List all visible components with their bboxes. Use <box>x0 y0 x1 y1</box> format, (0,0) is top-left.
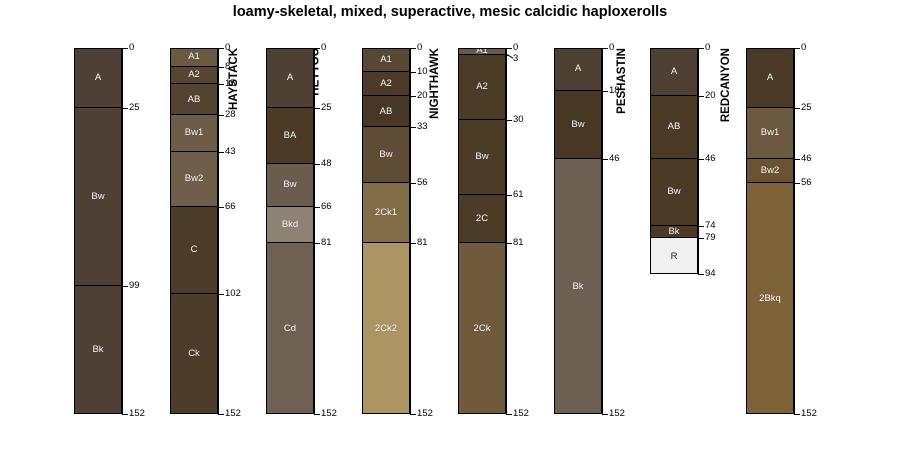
depth-tick-label: 56 <box>801 178 812 188</box>
depth-axis <box>218 48 219 414</box>
soil-horizon: 2Ck2 <box>363 243 409 414</box>
depth-tick <box>506 120 512 121</box>
depth-tick-label: 10 <box>417 67 428 77</box>
depth-tick <box>314 414 320 415</box>
depth-tick-label: 61 <box>513 190 524 200</box>
depth-tick-label: 152 <box>225 409 241 419</box>
depth-axis <box>794 48 795 414</box>
horizon-label: A <box>575 64 581 74</box>
depth-tick <box>410 96 416 97</box>
depth-axis <box>410 48 411 414</box>
depth-tick-label: 18 <box>609 86 620 96</box>
depth-tick <box>410 72 416 73</box>
depth-tick <box>314 108 320 109</box>
depth-tick <box>218 207 224 208</box>
depth-tick-label: 15 <box>225 79 236 89</box>
profile-bar: ABwBk <box>554 48 602 414</box>
soil-horizon: Bw <box>267 164 313 207</box>
horizon-label: A <box>287 73 293 83</box>
soil-horizon: 2Ck <box>459 243 505 414</box>
horizon-label: AB <box>188 95 201 105</box>
depth-tick <box>122 286 128 287</box>
depth-tick-label: 0 <box>513 43 518 53</box>
depth-tick <box>218 115 224 116</box>
horizon-label: 2Ck <box>474 324 491 334</box>
horizon-label: Ck <box>188 349 200 359</box>
depth-tick <box>698 226 704 227</box>
horizon-label: Bk <box>92 345 103 355</box>
depth-tick-label: 25 <box>801 103 812 113</box>
depth-tick <box>314 207 320 208</box>
soil-horizon: A <box>75 48 121 108</box>
depth-tick-label: 81 <box>321 238 332 248</box>
depth-tick <box>410 48 416 49</box>
horizon-label: A <box>767 73 773 83</box>
horizon-label: R <box>671 252 678 262</box>
soil-horizon: Bw2 <box>171 152 217 207</box>
depth-tick <box>698 274 704 275</box>
soil-horizon: A <box>555 48 601 91</box>
soil-horizon: AB <box>171 84 217 115</box>
profile-bar: A1A2ABBw2Ck12Ck2 <box>362 48 410 414</box>
horizon-label: Bw2 <box>761 166 779 176</box>
depth-tick-label: 0 <box>321 43 326 53</box>
soil-profile-plot: loamy-skeletal, mixed, superactive, mesi… <box>0 0 900 450</box>
depth-tick-label: 152 <box>513 409 529 419</box>
soil-horizon: Cd <box>267 243 313 414</box>
horizon-label: Bk <box>668 227 679 237</box>
depth-tick <box>218 84 224 85</box>
profile-bar: ABABwBkdCd <box>266 48 314 414</box>
horizon-label: Bw <box>379 150 392 160</box>
soil-horizon: C <box>171 207 217 294</box>
depth-tick <box>218 152 224 153</box>
horizon-label: A2 <box>380 79 392 89</box>
soil-horizon: Bk <box>555 159 601 414</box>
soil-horizon: R <box>651 238 697 274</box>
depth-tick-label: 46 <box>609 154 620 164</box>
depth-tick <box>314 48 320 49</box>
depth-tick <box>122 108 128 109</box>
depth-tick-label: 81 <box>513 238 524 248</box>
depth-tick <box>794 48 800 49</box>
depth-tick <box>602 48 608 49</box>
depth-tick-label: 0 <box>129 43 134 53</box>
depth-tick <box>410 127 416 128</box>
soil-horizon: Bk <box>651 226 697 238</box>
horizon-label: A1 <box>188 52 200 62</box>
depth-tick-label: 0 <box>801 43 806 53</box>
depth-tick <box>122 48 128 49</box>
horizon-label: BA <box>284 131 297 141</box>
soil-horizon: 2Ck1 <box>363 183 409 243</box>
horizon-label: Bw1 <box>761 128 779 138</box>
depth-tick <box>794 183 800 184</box>
profile-bar: A1A2ABBw1Bw2CCk <box>170 48 218 414</box>
depth-tick <box>794 108 800 109</box>
horizon-label: Bk <box>572 282 583 292</box>
depth-tick-label: 0 <box>225 43 230 53</box>
profile-name-label: PESHASTIN <box>616 48 628 114</box>
soil-horizon: AB <box>363 96 409 127</box>
horizon-label: Bw1 <box>185 128 203 138</box>
horizon-label: 2Ck1 <box>375 208 397 218</box>
soil-horizon: AB <box>651 96 697 159</box>
soil-horizon: Bw <box>651 159 697 226</box>
depth-axis <box>698 48 699 274</box>
horizon-label: Bw <box>571 120 584 130</box>
depth-tick-label: 66 <box>321 202 332 212</box>
depth-tick <box>698 159 704 160</box>
depth-tick-label: 20 <box>705 91 716 101</box>
depth-tick <box>602 414 608 415</box>
soil-horizon: A <box>267 48 313 108</box>
profile-name-label: NIGHTHAWK <box>429 48 441 119</box>
depth-tick-label: 152 <box>417 409 433 419</box>
depth-tick-label: 66 <box>225 202 236 212</box>
depth-tick <box>506 243 512 244</box>
depth-tick <box>698 48 704 49</box>
horizon-label: Bw <box>475 152 488 162</box>
depth-tick <box>410 243 416 244</box>
horizon-label: A <box>95 73 101 83</box>
horizon-label: Bw2 <box>185 174 203 184</box>
depth-tick-label: 33 <box>417 122 428 132</box>
depth-tick <box>602 159 608 160</box>
horizon-label: AB <box>668 122 681 132</box>
horizon-label: 2Bkq <box>759 294 781 304</box>
depth-tick <box>218 414 224 415</box>
soil-horizon: 2Bkq <box>747 183 793 414</box>
profile-name-label: REDCANYON <box>720 48 732 122</box>
soil-horizon: Bk <box>75 286 121 414</box>
soil-horizon: Bw1 <box>171 115 217 151</box>
depth-tick <box>794 159 800 160</box>
depth-tick-label: 152 <box>129 409 145 419</box>
depth-tick-label: 43 <box>225 147 236 157</box>
soil-horizon: Bw <box>459 120 505 195</box>
depth-tick-label: 25 <box>129 103 140 113</box>
depth-tick <box>314 243 320 244</box>
depth-tick <box>602 91 608 92</box>
depth-tick-label: 81 <box>417 238 428 248</box>
soil-horizon: A2 <box>171 67 217 84</box>
depth-tick <box>218 48 224 49</box>
horizon-label: A2 <box>476 82 488 92</box>
depth-tick <box>314 164 320 165</box>
soil-horizon: A1 <box>171 48 217 67</box>
depth-tick-label: 25 <box>321 103 332 113</box>
depth-tick-label: 56 <box>417 178 428 188</box>
depth-tick-label: 152 <box>609 409 625 419</box>
soil-horizon: BA <box>267 108 313 163</box>
horizon-label: A <box>671 67 677 77</box>
depth-axis <box>122 48 123 414</box>
horizon-label: A2 <box>188 70 200 80</box>
profile-bar: ABwBk <box>74 48 122 414</box>
depth-axis <box>314 48 315 414</box>
soil-horizon: A2 <box>459 55 505 120</box>
depth-tick <box>410 183 416 184</box>
depth-tick-label: 152 <box>321 409 337 419</box>
depth-axis <box>602 48 603 414</box>
depth-tick-label: 152 <box>801 409 817 419</box>
depth-tick-label: 74 <box>705 221 716 231</box>
depth-tick <box>698 96 704 97</box>
depth-tick <box>698 238 704 239</box>
profile-bar: AABBwBkR <box>650 48 698 274</box>
depth-tick <box>122 414 128 415</box>
depth-tick-label: 28 <box>225 110 236 120</box>
depth-tick <box>506 414 512 415</box>
soil-horizon: A1 <box>459 48 505 55</box>
depth-tick <box>410 414 416 415</box>
depth-tick-label: 0 <box>705 43 710 53</box>
depth-tick-label: 79 <box>705 233 716 243</box>
depth-tick <box>218 67 224 68</box>
soil-horizon: 2C <box>459 195 505 243</box>
depth-tick-label: 102 <box>225 289 241 299</box>
depth-tick <box>794 414 800 415</box>
depth-tick <box>218 294 224 295</box>
horizon-label: Bw <box>667 187 680 197</box>
soil-horizon: A1 <box>363 48 409 72</box>
depth-axis <box>506 48 507 414</box>
horizon-label: Cd <box>284 324 296 334</box>
soil-horizon: A2 <box>363 72 409 96</box>
depth-tick-label: 3 <box>513 54 518 64</box>
soil-horizon: Bw1 <box>747 108 793 159</box>
profile-bar: A1A2Bw2C2Ck <box>458 48 506 414</box>
depth-tick-label: 0 <box>417 43 422 53</box>
depth-tick-label: 94 <box>705 269 716 279</box>
depth-tick-label: 48 <box>321 159 332 169</box>
horizon-label: 2C <box>476 214 488 224</box>
soil-horizon: A <box>747 48 793 108</box>
page-title: loamy-skeletal, mixed, superactive, mesi… <box>0 4 900 20</box>
soil-horizon: Bkd <box>267 207 313 243</box>
soil-horizon: A <box>651 48 697 96</box>
depth-tick <box>506 48 512 49</box>
soil-horizon: Bw <box>75 108 121 286</box>
soil-horizon: Bw2 <box>747 159 793 183</box>
depth-tick <box>506 195 512 196</box>
soil-horizon: Bw <box>555 91 601 158</box>
depth-tick-label: 8 <box>225 62 230 72</box>
depth-tick-label: 30 <box>513 115 524 125</box>
soil-horizon: Ck <box>171 294 217 414</box>
horizon-label: Bkd <box>282 220 298 230</box>
horizon-label: 2Ck2 <box>375 324 397 334</box>
horizon-label: A1 <box>380 55 392 65</box>
horizon-label: AB <box>380 107 393 117</box>
horizon-label: Bw <box>283 180 296 190</box>
depth-tick-label: 46 <box>705 154 716 164</box>
profile-bar: ABw1Bw22Bkq <box>746 48 794 414</box>
depth-tick-label: 99 <box>129 281 140 291</box>
horizon-label: C <box>191 245 198 255</box>
depth-tick-label: 20 <box>417 91 428 101</box>
horizon-label: Bw <box>91 192 104 202</box>
depth-tick-label: 46 <box>801 154 812 164</box>
depth-tick-label: 0 <box>609 43 614 53</box>
soil-horizon: Bw <box>363 127 409 182</box>
